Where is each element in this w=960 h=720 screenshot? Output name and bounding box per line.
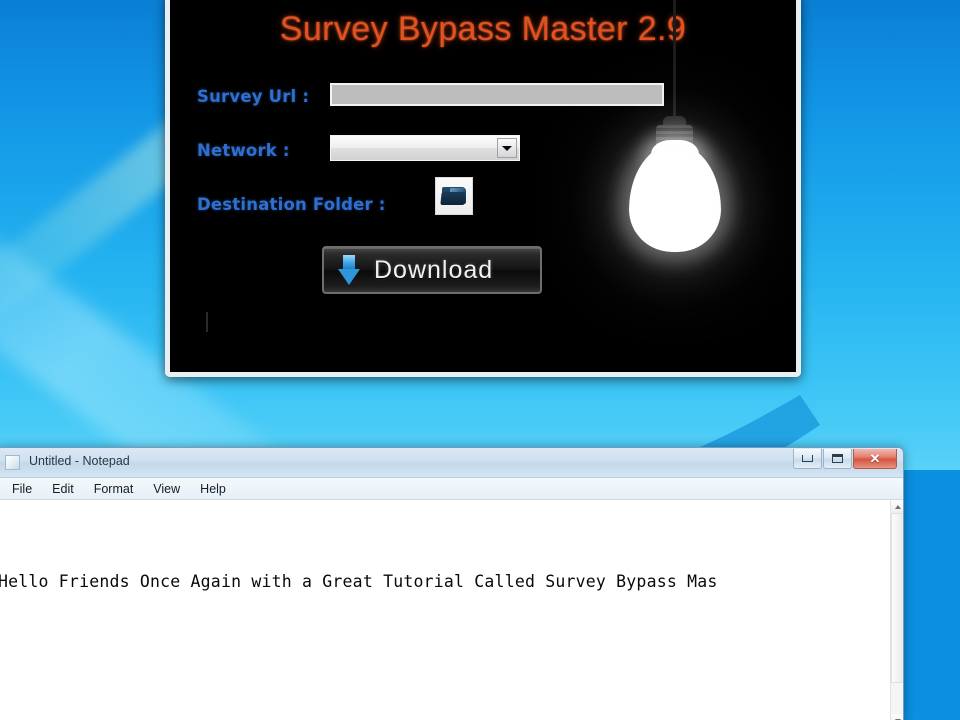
network-label: Network : xyxy=(197,141,290,160)
notepad-window[interactable]: Untitled - Notepad ✕ File Edit Format Vi… xyxy=(0,447,904,720)
scroll-down-icon[interactable] xyxy=(891,714,903,720)
close-icon: ✕ xyxy=(870,452,881,465)
chevron-down-icon[interactable] xyxy=(497,138,517,158)
app-title: Survey Bypass Master 2.9 xyxy=(170,10,796,49)
maximize-icon xyxy=(832,454,843,463)
screen: Survey Bypass Master 2.9 Survey Url : Ne… xyxy=(0,0,960,720)
menu-item-help[interactable]: Help xyxy=(191,480,235,498)
destination-folder-label: Destination Folder : xyxy=(197,195,386,214)
notepad-menubar: File Edit Format View Help xyxy=(0,478,903,500)
notepad-titlebar[interactable]: Untitled - Notepad ✕ xyxy=(0,448,903,478)
survey-url-input[interactable] xyxy=(330,83,664,106)
notepad-icon xyxy=(5,455,20,470)
survey-bypass-master-window[interactable]: Survey Bypass Master 2.9 Survey Url : Ne… xyxy=(165,0,801,377)
lightbulb-icon xyxy=(629,144,721,252)
destination-folder-browse-button[interactable] xyxy=(435,177,473,215)
download-button[interactable]: Download xyxy=(322,246,542,294)
menu-item-view[interactable]: View xyxy=(144,480,189,498)
text-line xyxy=(0,662,890,694)
menu-item-file[interactable]: File xyxy=(3,480,41,498)
window-controls: ✕ xyxy=(793,449,897,469)
notepad-text-content[interactable]: Hello Friends Once Again with a Great Tu… xyxy=(0,500,890,720)
close-button[interactable]: ✕ xyxy=(853,449,897,469)
maximize-button[interactable] xyxy=(823,449,852,469)
menu-item-format[interactable]: Format xyxy=(85,480,143,498)
download-button-label: Download xyxy=(374,256,493,285)
app-content: Survey Bypass Master 2.9 Survey Url : Ne… xyxy=(170,0,796,372)
lightbulb-cord-icon xyxy=(673,0,676,122)
survey-url-label: Survey Url : xyxy=(197,87,309,106)
scroll-up-icon[interactable] xyxy=(891,500,903,513)
network-dropdown[interactable] xyxy=(330,135,520,161)
minimize-icon xyxy=(802,455,813,462)
notepad-text-area[interactable]: Hello Friends Once Again with a Great Tu… xyxy=(0,500,903,720)
vertical-scrollbar[interactable] xyxy=(890,500,903,720)
app-status-caret xyxy=(206,312,208,332)
minimize-button[interactable] xyxy=(793,449,822,469)
scrollbar-thumb[interactable] xyxy=(891,513,903,683)
folder-icon xyxy=(441,186,467,206)
download-arrow-icon xyxy=(338,255,360,285)
text-line: Hello Friends Once Again with a Great Tu… xyxy=(0,566,890,598)
notepad-title: Untitled - Notepad xyxy=(29,454,130,468)
menu-item-edit[interactable]: Edit xyxy=(43,480,83,498)
